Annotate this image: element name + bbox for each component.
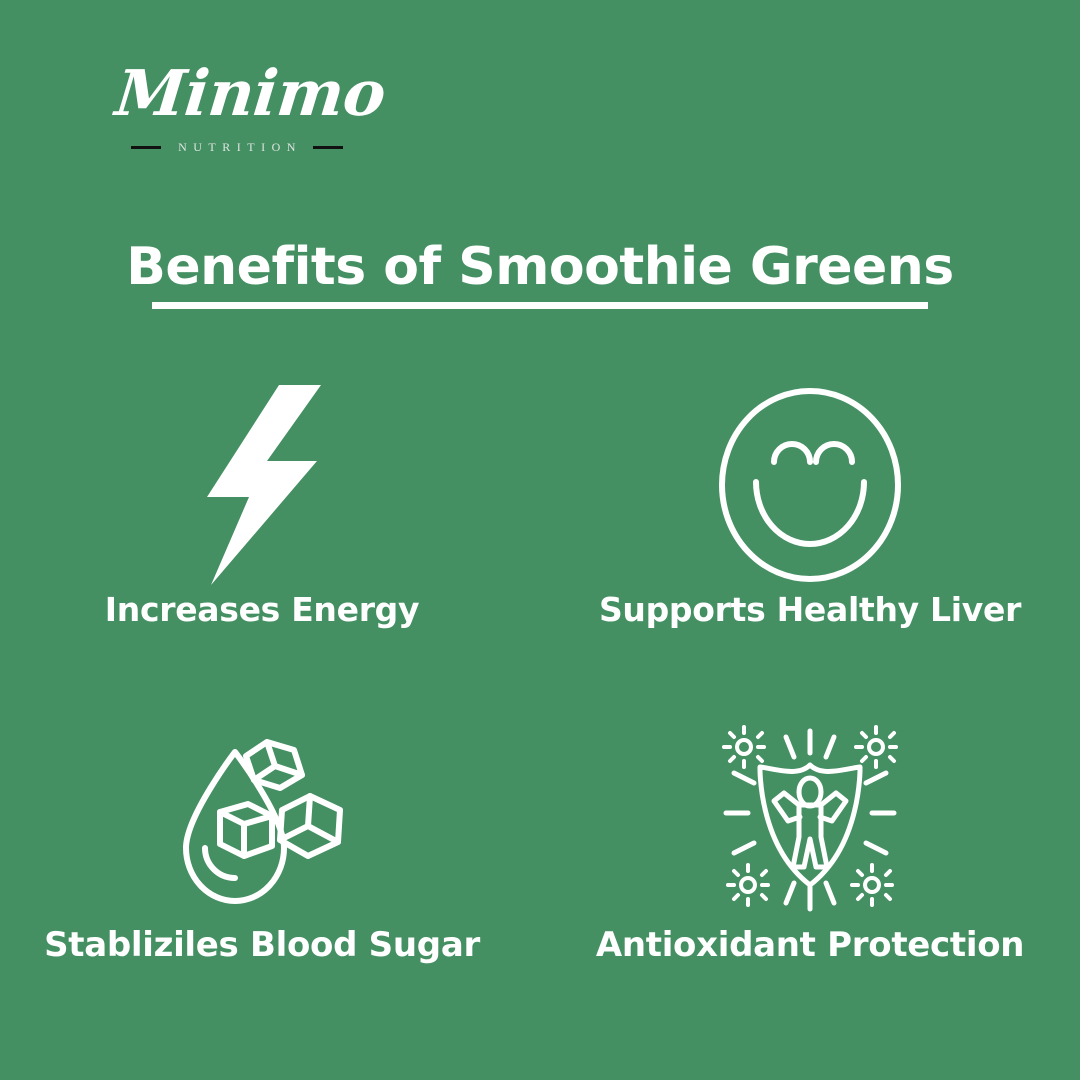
page-title: Benefits of Smoothie Greens: [126, 238, 954, 296]
benefit-label: Supports Healthy Liver: [560, 590, 1060, 630]
brand-tagline-row: NUTRITION: [120, 140, 350, 155]
benefit-label: Antioxidant Protection: [560, 925, 1060, 965]
benefits-grid: Increases Energy Supports Healthy Liver: [0, 380, 1080, 1040]
benefit-item: Increases Energy: [12, 380, 512, 630]
logo-rule-right-icon: [313, 146, 343, 149]
brand-wordmark: Minimo: [112, 56, 354, 130]
benefit-item: Stabliziles Blood Sugar: [12, 715, 512, 965]
page-title-block: Benefits of Smoothie Greens: [0, 238, 1080, 309]
benefit-label: Increases Energy: [12, 590, 512, 630]
brand-logo: Minimo NUTRITION: [120, 56, 350, 155]
benefit-item: Antioxidant Protection: [560, 715, 1060, 965]
lightning-bolt-icon: [12, 380, 512, 590]
shield-person-antioxidant-icon: [560, 715, 1060, 925]
logo-rule-left-icon: [131, 146, 161, 149]
benefit-label: Stabliziles Blood Sugar: [12, 925, 512, 965]
smiley-face-icon: [560, 380, 1060, 590]
benefit-item: Supports Healthy Liver: [560, 380, 1060, 630]
title-underline: [152, 302, 928, 309]
brand-tagline: NUTRITION: [172, 140, 302, 155]
infographic-canvas: Minimo NUTRITION Benefits of Smoothie Gr…: [0, 0, 1080, 1080]
water-drop-sugar-cubes-icon: [12, 715, 512, 925]
